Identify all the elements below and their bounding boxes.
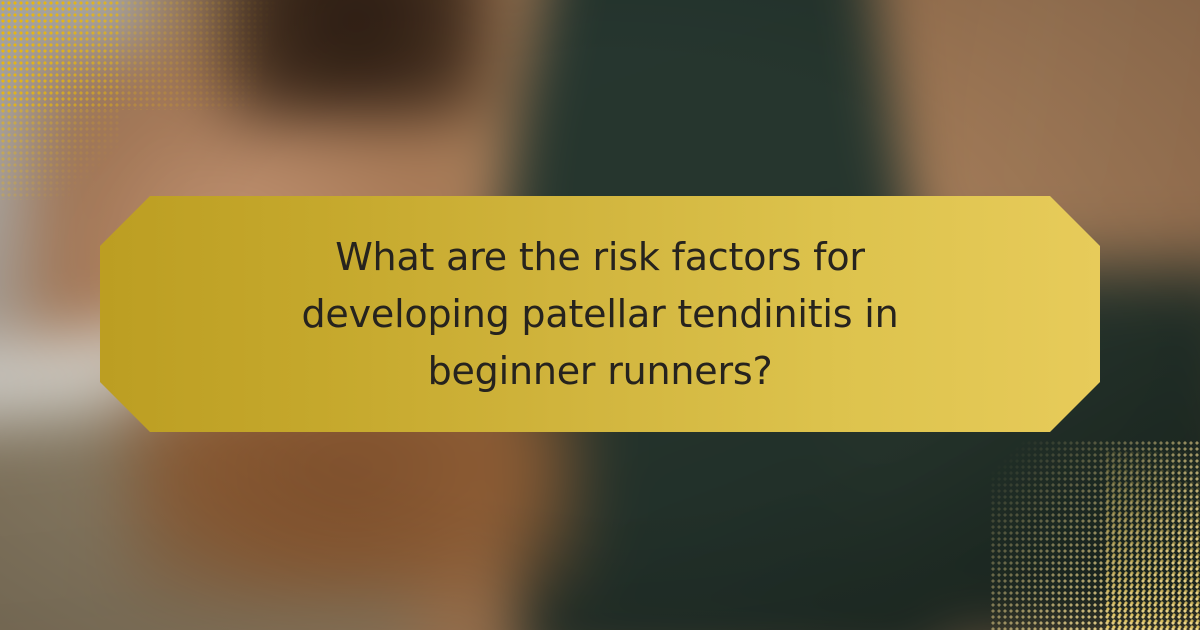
halftone-dots-top-left-band <box>0 0 340 110</box>
halftone-dots-bottom-right-edge <box>1105 450 1200 630</box>
promo-card: What are the risk factors for developing… <box>0 0 1200 630</box>
headline-banner: What are the risk factors for developing… <box>100 196 1100 432</box>
headline-text: What are the risk factors for developing… <box>250 229 950 400</box>
